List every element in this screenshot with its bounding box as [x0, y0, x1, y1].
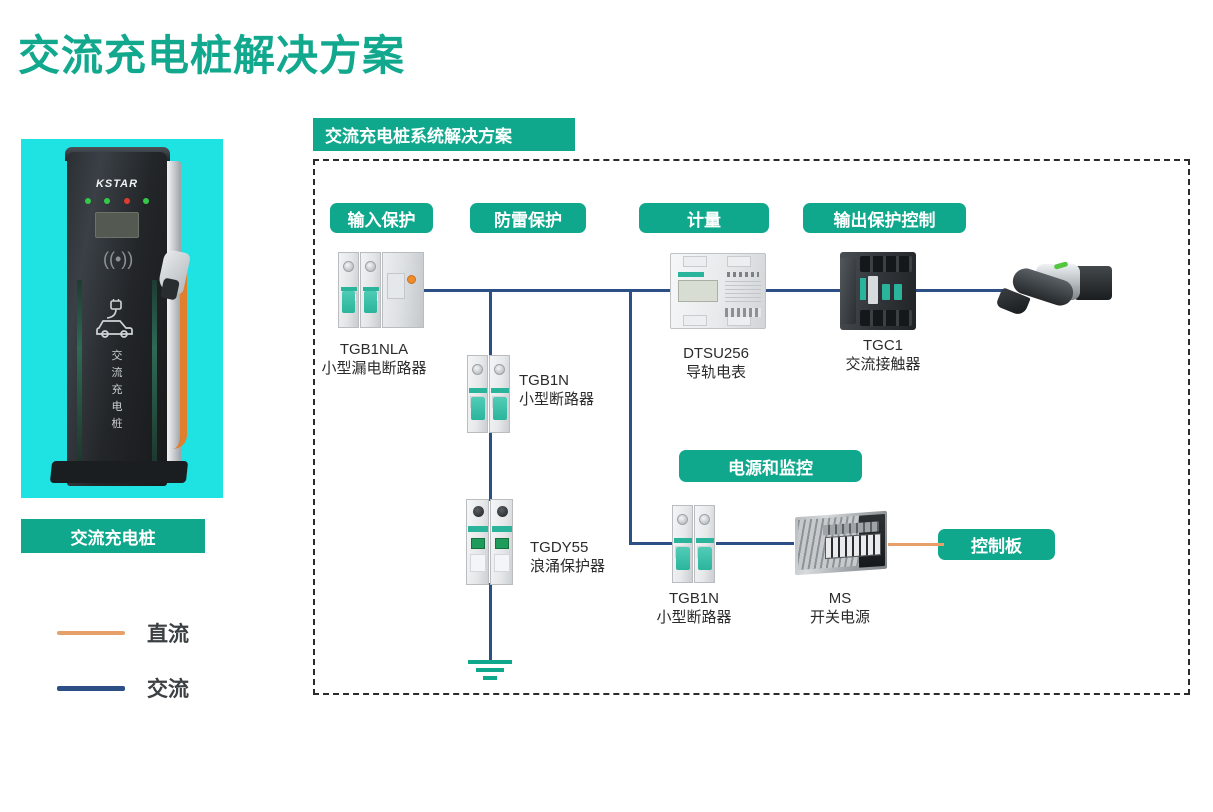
psu-terminal-block [825, 533, 881, 559]
solution-diagram-page: 交流充电桩解决方案 KSTAR ((•)) [0, 0, 1213, 812]
meter-din-clip-top-right [727, 256, 751, 267]
mcb-upper-terminal-1 [472, 364, 483, 375]
label-code: TGB1N [624, 589, 764, 608]
meter-terminal-strip [725, 308, 761, 317]
mcb-upper-pole-2 [489, 355, 510, 433]
wire-dc-psu-to-control-board [888, 543, 944, 546]
label-mcb-tgb1n-upper: TGB1N 小型断路器 [519, 371, 659, 409]
category-badge-input-protection: 输入保护 [330, 203, 433, 233]
legend-label-ac: 交流 [147, 673, 189, 703]
label-name: 小型断路器 [519, 390, 659, 409]
rcbo-pole-1 [338, 252, 359, 328]
mcb-lower-toggle-2[interactable] [698, 547, 712, 570]
wire-ac-contactor-to-gun [913, 289, 1003, 292]
category-badge-metering: 计量 [639, 203, 769, 233]
product-mcb-tgb1n-lower [672, 505, 716, 583]
label-name: 开关电源 [785, 608, 895, 627]
pile-vertical-text: 交流充电桩 [67, 348, 167, 433]
label-spd-tgdy55: TGDY55 浪涌保护器 [530, 538, 660, 576]
mcb-lower-terminal-2 [699, 514, 710, 525]
mcb-upper-toggle-1[interactable] [471, 397, 485, 420]
wire-ac-main-bus [410, 289, 676, 292]
spd-brand-bar-1 [468, 526, 488, 532]
pile-led-3 [124, 198, 130, 204]
contactor-brand-tab [860, 278, 866, 300]
mcb-lower-pole-2 [694, 505, 715, 583]
legend-line-dc [57, 631, 125, 635]
label-contactor-tgc1: TGC1 交流接触器 [828, 336, 938, 374]
spd-module-2 [490, 499, 513, 585]
ground-symbol [468, 660, 512, 684]
mcb-upper-brand-bar-1 [469, 388, 487, 393]
charging-pile-photo: KSTAR ((•)) 交流充电桩 [21, 139, 223, 498]
label-psu-ms: MS 开关电源 [785, 589, 895, 627]
spd-label-2 [494, 554, 510, 572]
label-code: TGC1 [828, 336, 938, 355]
spd-knob-1 [473, 506, 484, 517]
category-badge-surge-protection: 防雷保护 [470, 203, 586, 233]
product-psu-ms [795, 511, 887, 575]
label-name: 小型断路器 [624, 608, 764, 627]
wire-ac-mcb-to-spd [489, 425, 492, 501]
label-code: TGB1NLA [289, 340, 459, 359]
meter-info-plate [725, 281, 761, 305]
product-contactor-tgc1 [840, 252, 916, 330]
category-badge-power-monitoring: 电源和监控 [679, 450, 862, 482]
legend-item-ac: 交流 [57, 673, 189, 703]
page-title: 交流充电桩解决方案 [18, 22, 405, 83]
wire-ac-branch-to-mcb [489, 289, 492, 357]
product-rcbo-tgb1nla [338, 252, 424, 328]
label-mcb-tgb1n-lower: TGB1N 小型断路器 [624, 589, 764, 627]
contactor-bottom-terminals [860, 310, 912, 326]
wire-ac-spd-to-ground [489, 583, 492, 660]
meter-brand-bar [678, 272, 704, 277]
pile-led-2 [104, 198, 110, 204]
spd-status-window-1 [471, 538, 485, 549]
legend-item-dc: 直流 [57, 618, 189, 648]
mcb-upper-toggle-2[interactable] [493, 397, 507, 420]
rcbo-terminal-2 [365, 261, 376, 272]
label-name: 导轨电表 [651, 363, 781, 382]
mcb-lower-brand-bar-2 [696, 538, 714, 543]
contactor-front-plate [868, 276, 878, 304]
product-ev-charging-connector [994, 258, 1112, 320]
mcb-lower-terminal-1 [677, 514, 688, 525]
label-code: DTSU256 [651, 344, 781, 363]
spd-brand-bar-2 [492, 526, 512, 532]
mcb-upper-terminal-2 [494, 364, 505, 375]
legend-label-dc: 直流 [147, 618, 189, 648]
mcb-upper-brand-bar-2 [491, 388, 509, 393]
spd-knob-2 [497, 506, 508, 517]
rcbo-test-button[interactable] [407, 275, 416, 284]
meter-lcd-display [678, 280, 718, 302]
product-spd-tgdy55 [466, 499, 514, 585]
pile-brand-label: KSTAR [67, 178, 167, 190]
category-badge-output-control: 输出保护控制 [803, 203, 966, 233]
rcbo-toggle-2[interactable] [364, 291, 377, 313]
label-code: MS [785, 589, 895, 608]
spd-label-1 [470, 554, 486, 572]
meter-led-row [727, 272, 759, 277]
pile-display-screen [95, 212, 139, 238]
label-meter-dtsu256: DTSU256 导轨电表 [651, 344, 781, 382]
rcbo-residual-module [382, 252, 424, 328]
rcbo-terminal-1 [343, 261, 354, 272]
pile-base [50, 461, 188, 483]
contactor-button-2[interactable] [894, 284, 902, 300]
pile-led-row [85, 198, 149, 204]
product-meter-dtsu256 [670, 253, 766, 329]
rfid-icon: ((•)) [103, 248, 131, 270]
rcbo-module-plate [387, 273, 405, 299]
mcb-upper-pole-1 [467, 355, 488, 433]
wire-ac-meter-to-contactor [762, 289, 840, 292]
label-name: 浪涌保护器 [530, 557, 660, 576]
pile-body: KSTAR ((•)) 交流充电桩 [67, 152, 167, 486]
diagram-header-badge: 交流充电桩系统解决方案 [313, 118, 575, 151]
charging-pile-caption-badge: 交流充电桩 [21, 519, 205, 553]
mcb-lower-toggle-1[interactable] [676, 547, 690, 570]
rcbo-toggle-1[interactable] [342, 291, 355, 313]
ev-charging-icon [91, 298, 143, 338]
label-name: 小型漏电断路器 [289, 359, 459, 378]
pile-led-1 [85, 198, 91, 204]
spd-module-1 [466, 499, 489, 585]
product-mcb-tgb1n-upper [467, 355, 511, 433]
wire-ac-mcb-to-psu [716, 542, 794, 545]
contactor-top-terminals [860, 256, 912, 272]
contactor-side-module [840, 258, 856, 324]
mcb-lower-brand-bar-1 [674, 538, 692, 543]
rcbo-pole-2 [360, 252, 381, 328]
pile-led-4 [143, 198, 149, 204]
wire-ac-branch-to-power-section [629, 289, 632, 544]
endpoint-badge-control-board: 控制板 [938, 529, 1055, 560]
spd-status-window-2 [495, 538, 509, 549]
label-code: TGDY55 [530, 538, 660, 557]
meter-din-clip-bottom-left [683, 315, 707, 326]
label-name: 交流接触器 [828, 355, 938, 374]
legend-line-ac [57, 686, 125, 691]
mcb-lower-pole-1 [672, 505, 693, 583]
contactor-button-1[interactable] [882, 284, 890, 300]
meter-din-clip-top-left [683, 256, 707, 267]
label-code: TGB1N [519, 371, 659, 390]
label-rcbo-tgb1nla: TGB1NLA 小型漏电断路器 [289, 340, 459, 378]
